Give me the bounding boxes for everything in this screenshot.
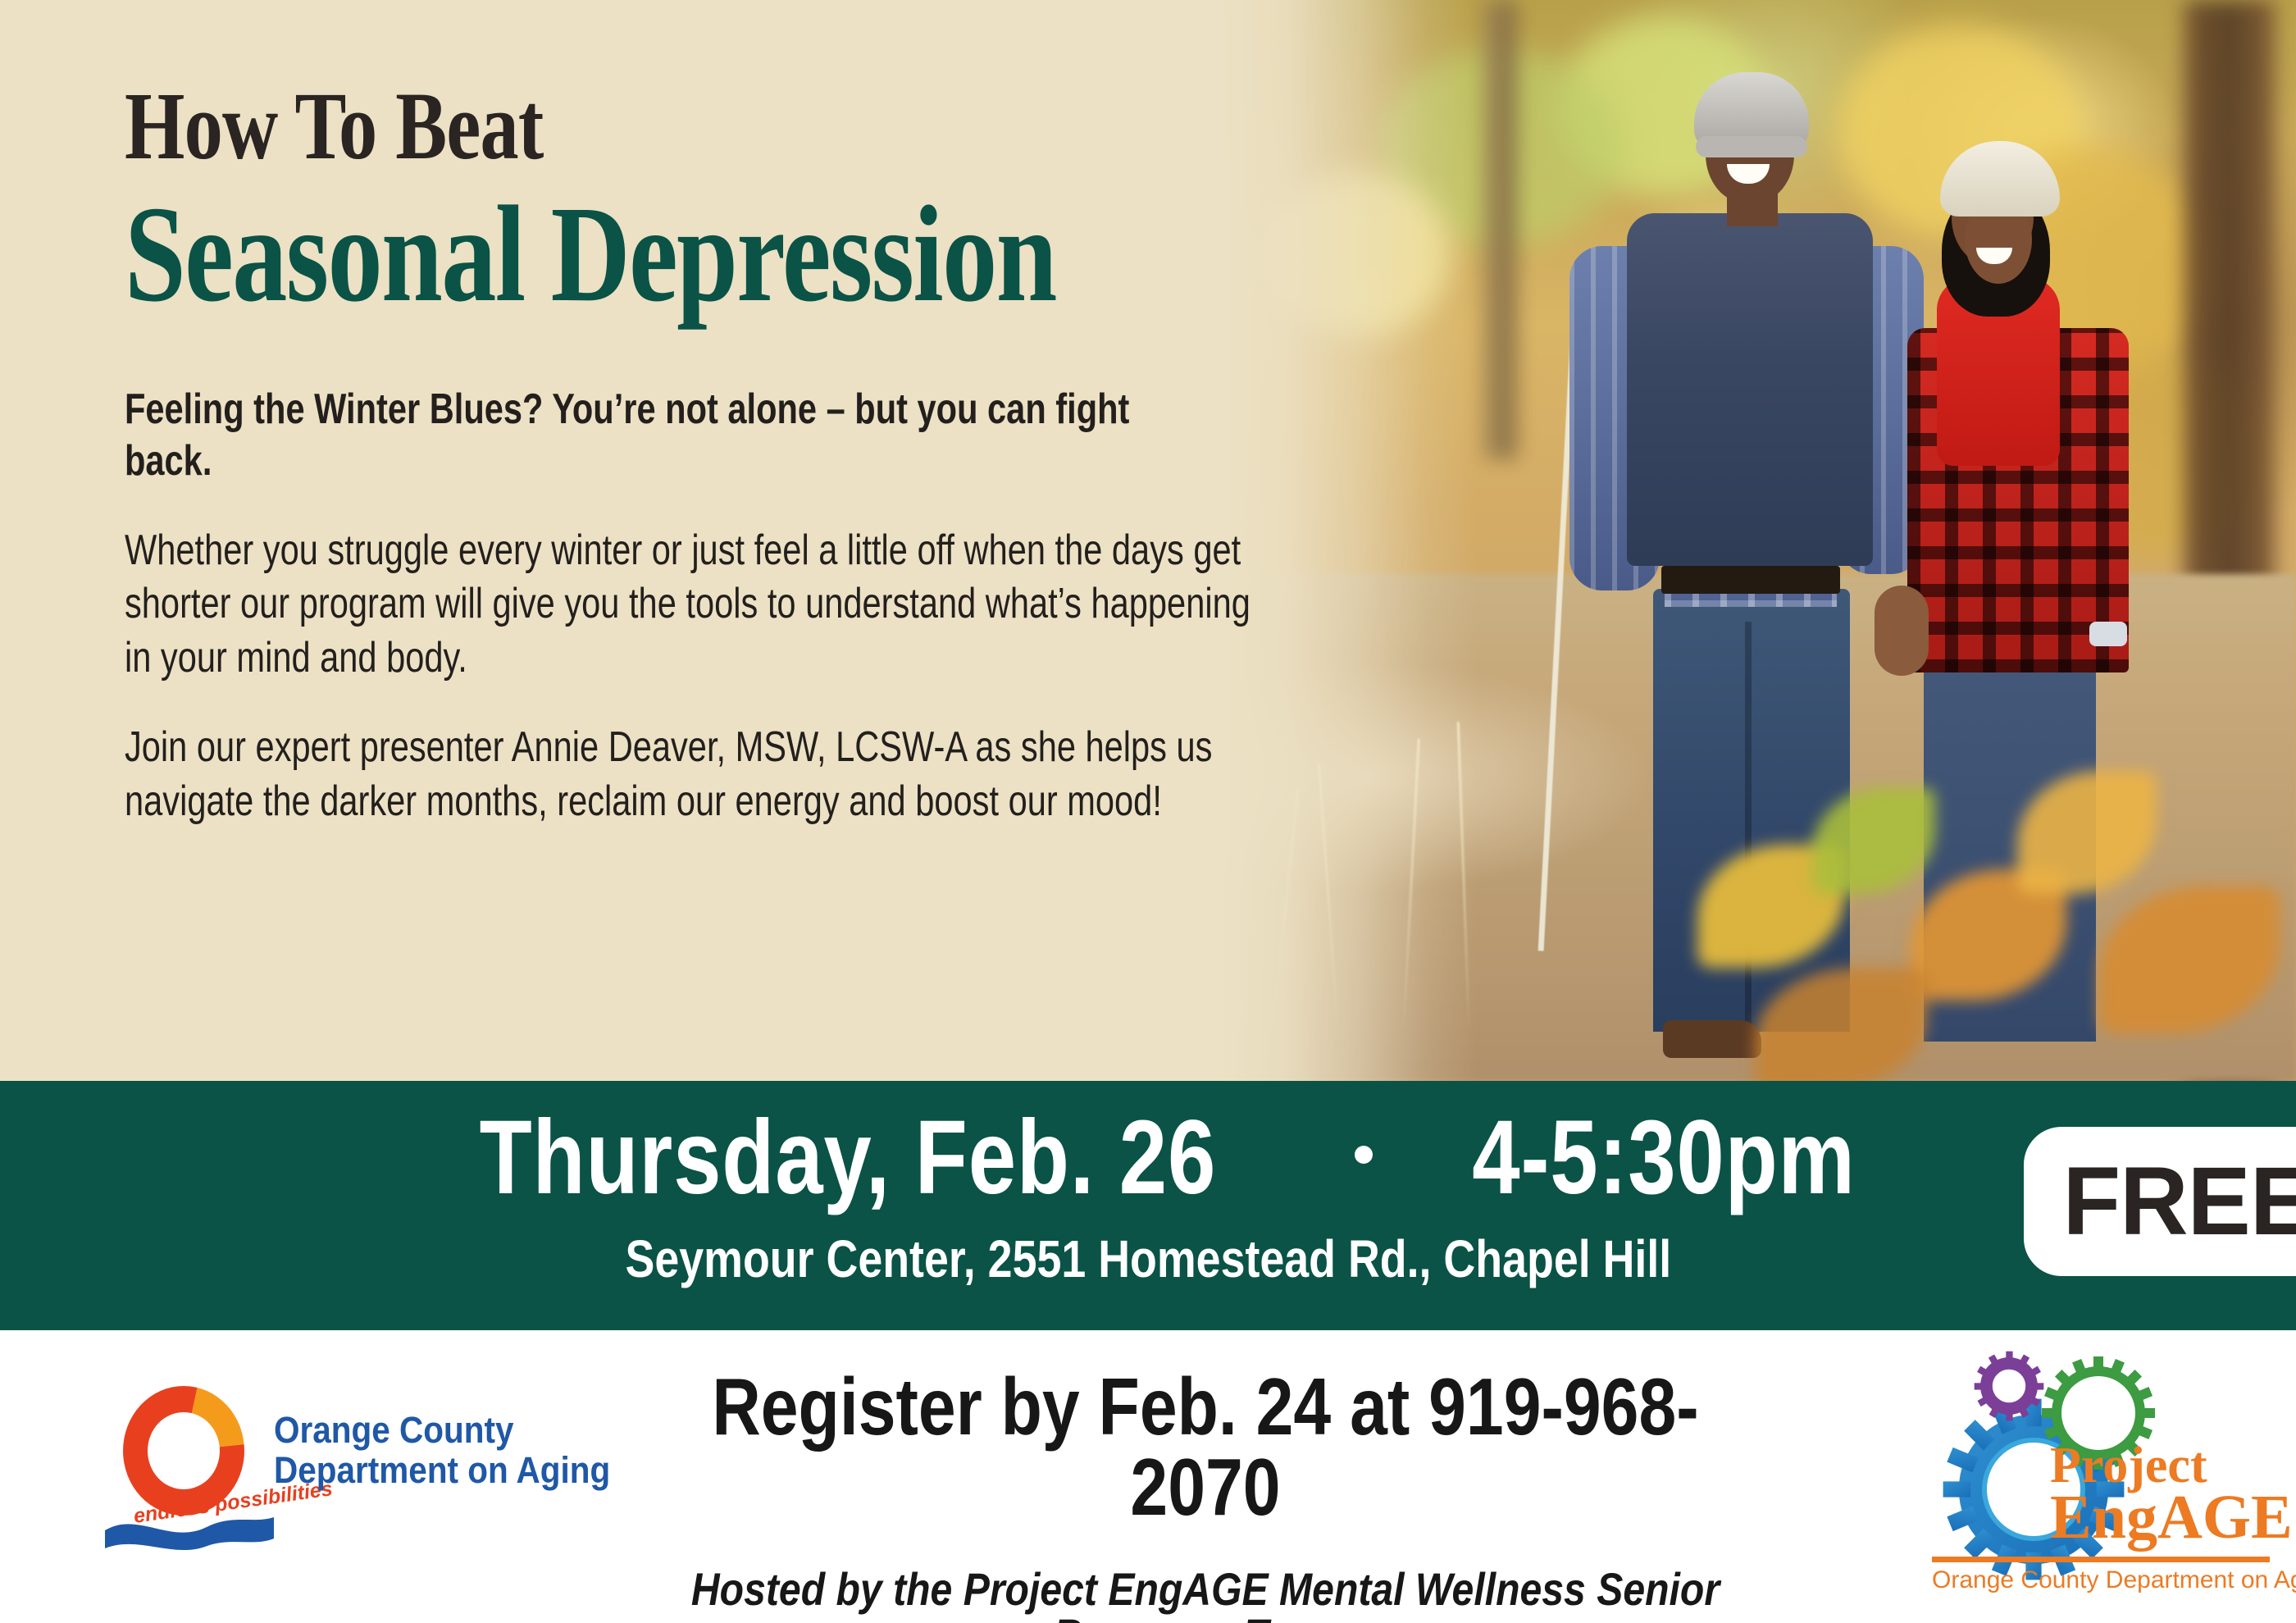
tree-trunk: [1484, 0, 1517, 459]
lede-paragraph: Feeling the Winter Blues? You’re not alo…: [125, 384, 1148, 488]
footer: endless possibilities Orange County Depa…: [0, 1330, 2296, 1623]
woman-watch: [2089, 622, 2127, 646]
event-venue-text: Seymour Center, 2551 Homestead Rd., Chap…: [625, 1233, 1671, 1285]
poster: How To Beat Seasonal Depression Feeling …: [0, 0, 2296, 1623]
woman-hand: [1875, 586, 1929, 676]
hosted-text: Hosted by the Project EngAGE Mental Well…: [655, 1566, 1756, 1623]
event-time: 4-5:30pm: [1473, 1106, 1856, 1210]
text-column: How To Beat Seasonal Depression Feeling …: [0, 0, 1148, 1081]
free-badge-label: FREE!: [2062, 1146, 2296, 1257]
event-date: Thursday, Feb. 26: [479, 1106, 1216, 1210]
event-datetime: Thursday, Feb. 26 4-5:30pm: [0, 1106, 2296, 1210]
engage-logo-tagline: Orange County Department on Aging: [1932, 1566, 2270, 1594]
body-paragraph-2: Join our expert presenter Annie Deaver, …: [125, 721, 1279, 828]
man-belt: [1661, 566, 1840, 594]
orange-county-logo: endless possibilities Orange County Depa…: [113, 1386, 507, 1558]
man-shoe: [1663, 1020, 1761, 1058]
kicker-title: How To Beat: [125, 79, 943, 174]
free-badge: FREE!: [2024, 1127, 2296, 1276]
gear-small-purple-icon: [1971, 1348, 2047, 1424]
engage-logo-divider: [1932, 1557, 2270, 1562]
event-venue: Seymour Center, 2551 Homestead Rd., Chap…: [0, 1233, 2296, 1285]
man-vest: [1627, 213, 1873, 566]
bullet-separator-icon: [1355, 1146, 1373, 1164]
oc-logo-name: Orange County Department on Aging: [274, 1411, 610, 1490]
page-title: Seasonal Depression: [125, 185, 943, 323]
hero-photo: [1132, 0, 2296, 1081]
oc-logo-name-line-1: Orange County: [274, 1411, 610, 1451]
register-line: Register by Feb. 24 at 919-968-2070: [566, 1366, 1845, 1527]
oc-logo-name-line-2: Department on Aging: [274, 1451, 610, 1491]
event-banner: Thursday, Feb. 26 4-5:30pm Seymour Cente…: [0, 1081, 2296, 1330]
hosted-line: Hosted by the Project EngAGE Mental Well…: [566, 1566, 1845, 1623]
project-engage-logo: Project EngAGE Orange County Department …: [1929, 1348, 2281, 1586]
register-text: Register by Feb. 24 at 919-968-2070: [668, 1366, 1742, 1527]
body-paragraph-1: Whether you struggle every winter or jus…: [125, 524, 1279, 686]
footer-center: Register by Feb. 24 at 919-968-2070 Host…: [566, 1366, 1845, 1623]
engage-logo-word-2: EngAGE: [2050, 1486, 2293, 1548]
